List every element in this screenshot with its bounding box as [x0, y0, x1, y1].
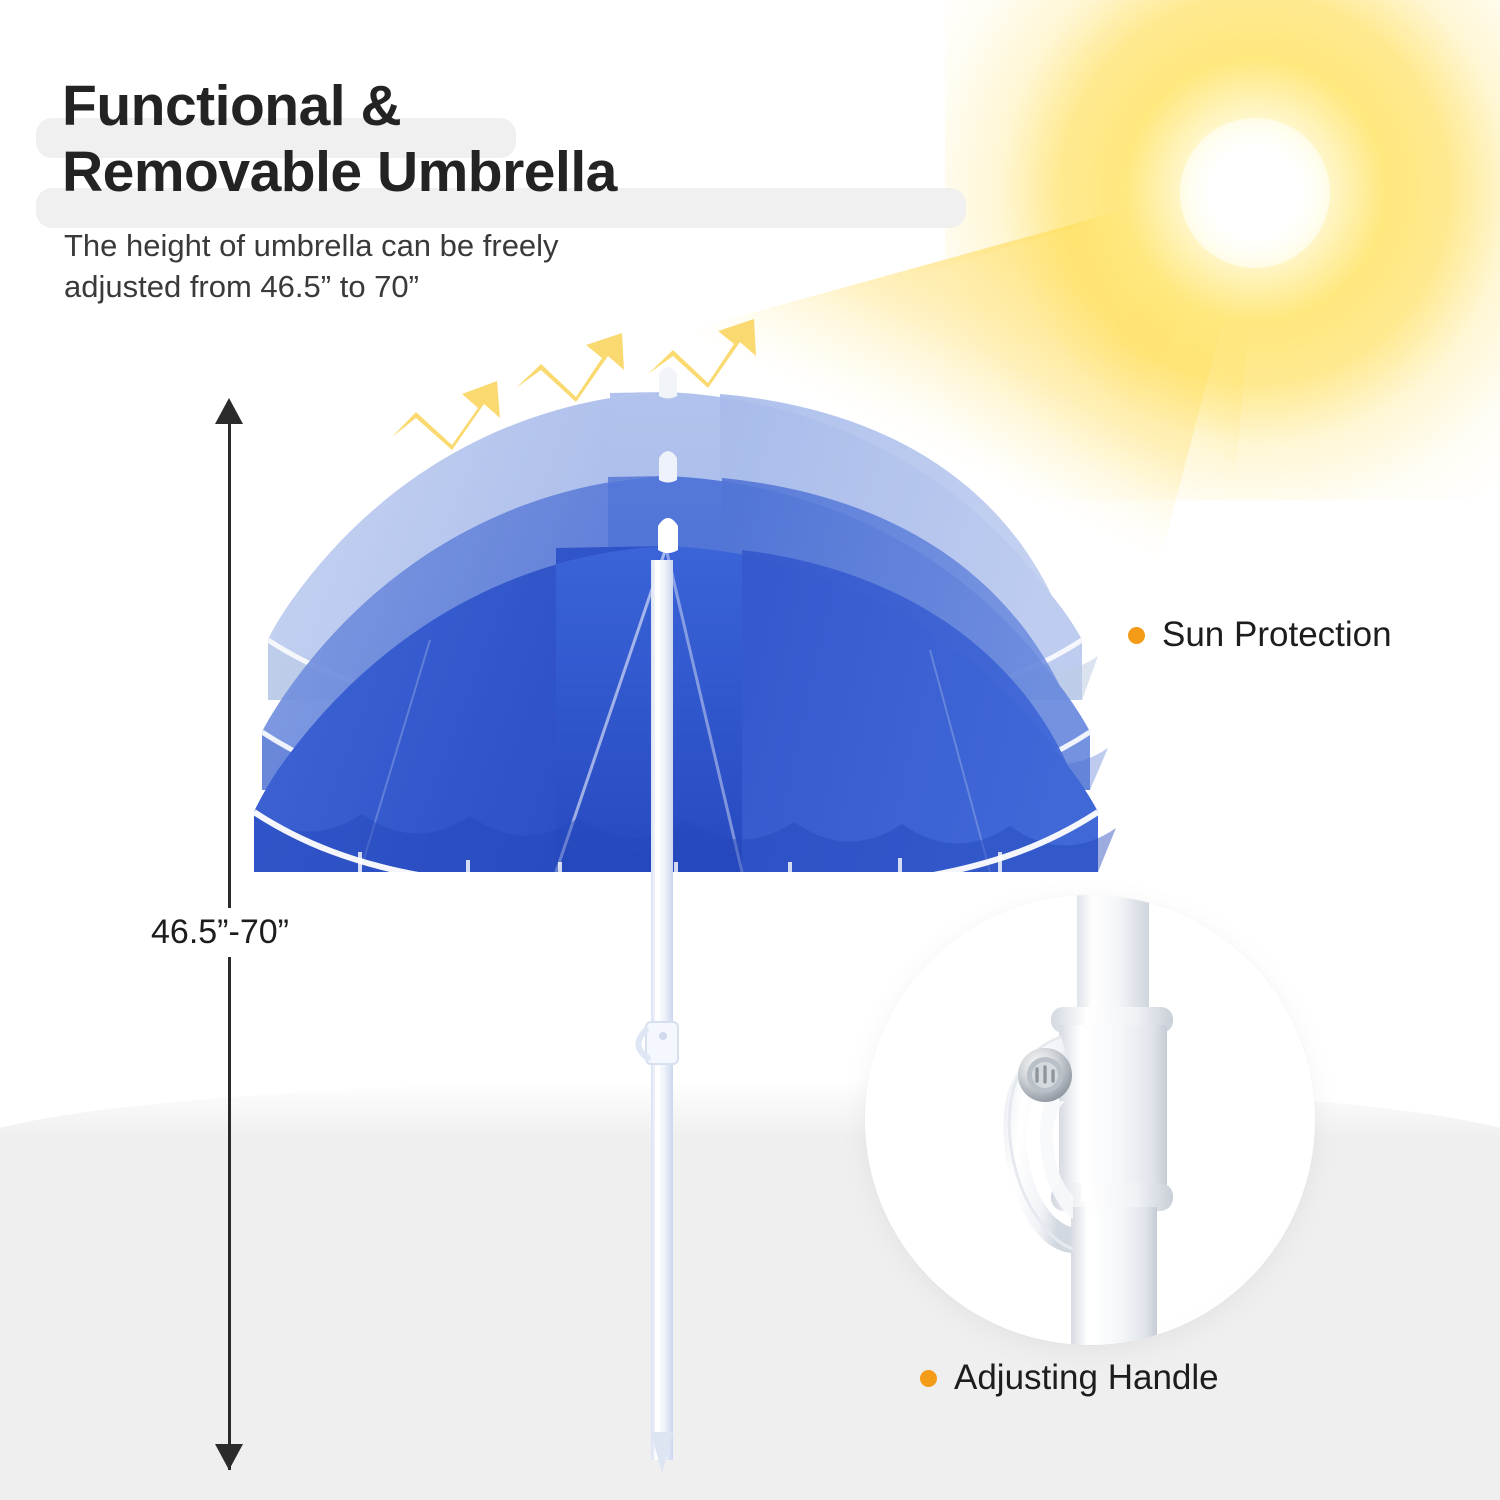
infographic-canvas: Functional & Removable Umbrella The heig… — [0, 0, 1500, 1500]
bullet-dot-icon — [1128, 627, 1145, 644]
adjusting-handle-closeup — [865, 895, 1315, 1345]
annotation-sun-protection: Sun Protection — [1128, 615, 1392, 655]
dimension-label: 46.5”-70” — [142, 908, 298, 957]
umbrella-illustration — [0, 0, 1500, 1500]
detail-circle-icon — [865, 895, 1315, 1345]
bullet-dot-icon — [920, 1370, 937, 1387]
annotation-label: Sun Protection — [1162, 615, 1392, 655]
annotation-adjusting-handle: Adjusting Handle — [920, 1358, 1219, 1398]
annotation-label: Adjusting Handle — [954, 1358, 1219, 1398]
dimension-arrow-head-bottom — [215, 1444, 243, 1470]
